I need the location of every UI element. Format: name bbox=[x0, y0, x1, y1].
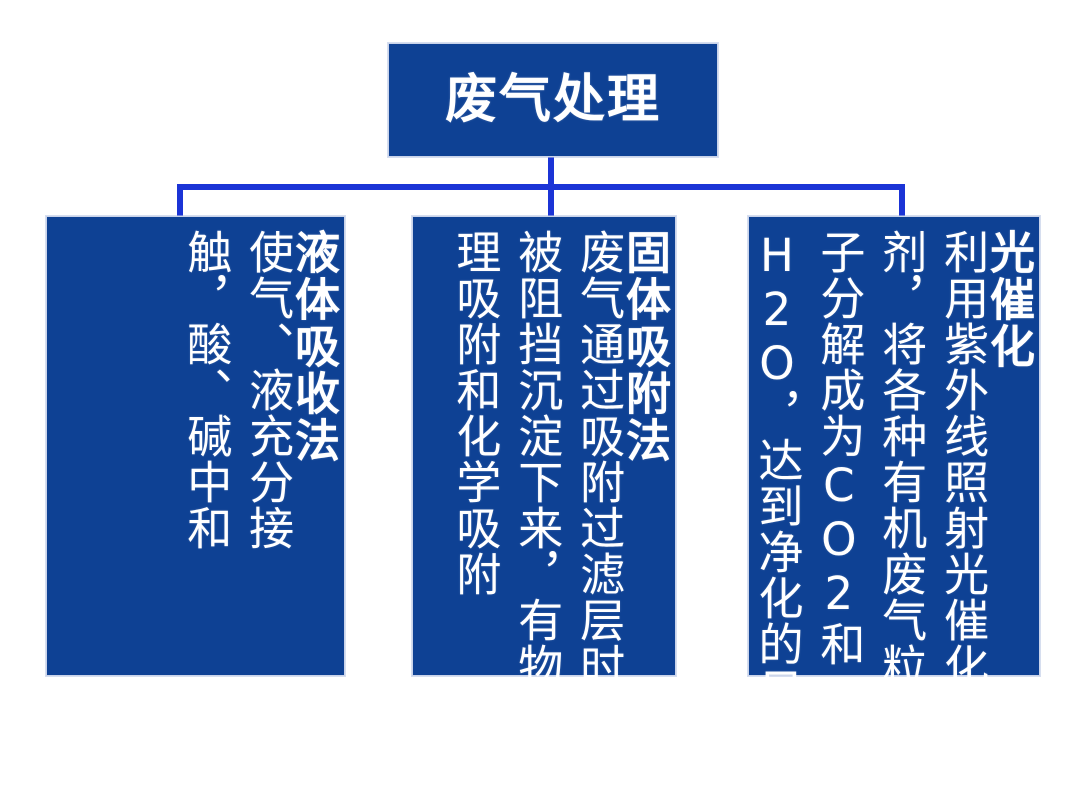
branch-body-column: 使气、液充分接 bbox=[244, 229, 290, 551]
branch-node-photocatalysis[interactable]: 光催化 利用紫外线照射光催化 剂，将各种有机废气粒 子分解成为CO2和 H2O，… bbox=[748, 216, 1040, 676]
branch-heading: 固体吸附法 bbox=[621, 229, 667, 464]
branch-body-column: H2O，达到净化的目的 bbox=[754, 229, 800, 759]
branch-body-column: 利用紫外线照射光催化 bbox=[939, 229, 985, 689]
branch-body-column: 废气通过吸附过滤层时 bbox=[575, 229, 621, 689]
branch-node-solid-adsorption[interactable]: 固体吸附法 废气通过吸附过滤层时 被阻挡沉淀下来，有物 理吸附和化学吸附 bbox=[412, 216, 676, 676]
branch-body-column: 触，酸、碱中和 bbox=[182, 229, 228, 551]
branch-body-column: 子分解成为CO2和 bbox=[815, 229, 861, 667]
branch-node-liquid-absorption[interactable]: 液体吸收法 使气、液充分接 触，酸、碱中和 bbox=[46, 216, 345, 676]
branch-heading: 光催化 bbox=[985, 229, 1031, 370]
root-node[interactable]: 废气处理 bbox=[388, 43, 718, 157]
branch-body-column: 剂，将各种有机废气粒 bbox=[877, 229, 923, 689]
branch-text-columns: 光催化 利用紫外线照射光催化 剂，将各种有机废气粒 子分解成为CO2和 H2O，… bbox=[738, 229, 1031, 665]
branch-heading: 液体吸收法 bbox=[290, 229, 336, 464]
connector-drop-right bbox=[899, 184, 905, 217]
diagram-canvas: 废气处理 液体吸收法 使气、液充分接 触，酸、碱中和 固体吸附法 废气通过吸附过… bbox=[0, 0, 1084, 800]
connector-horizontal-bar bbox=[177, 184, 905, 190]
branch-body-column: 被阻挡沉淀下来，有物 bbox=[513, 229, 559, 689]
root-node-label: 废气处理 bbox=[445, 74, 661, 126]
branch-text-columns: 固体吸附法 废气通过吸附过滤层时 被阻挡沉淀下来，有物 理吸附和化学吸附 bbox=[435, 229, 667, 665]
branch-text-columns: 液体吸收法 使气、液充分接 触，酸、碱中和 bbox=[166, 229, 336, 665]
branch-body-column: 理吸附和化学吸附 bbox=[451, 229, 497, 597]
connector-drop-left bbox=[177, 184, 183, 217]
